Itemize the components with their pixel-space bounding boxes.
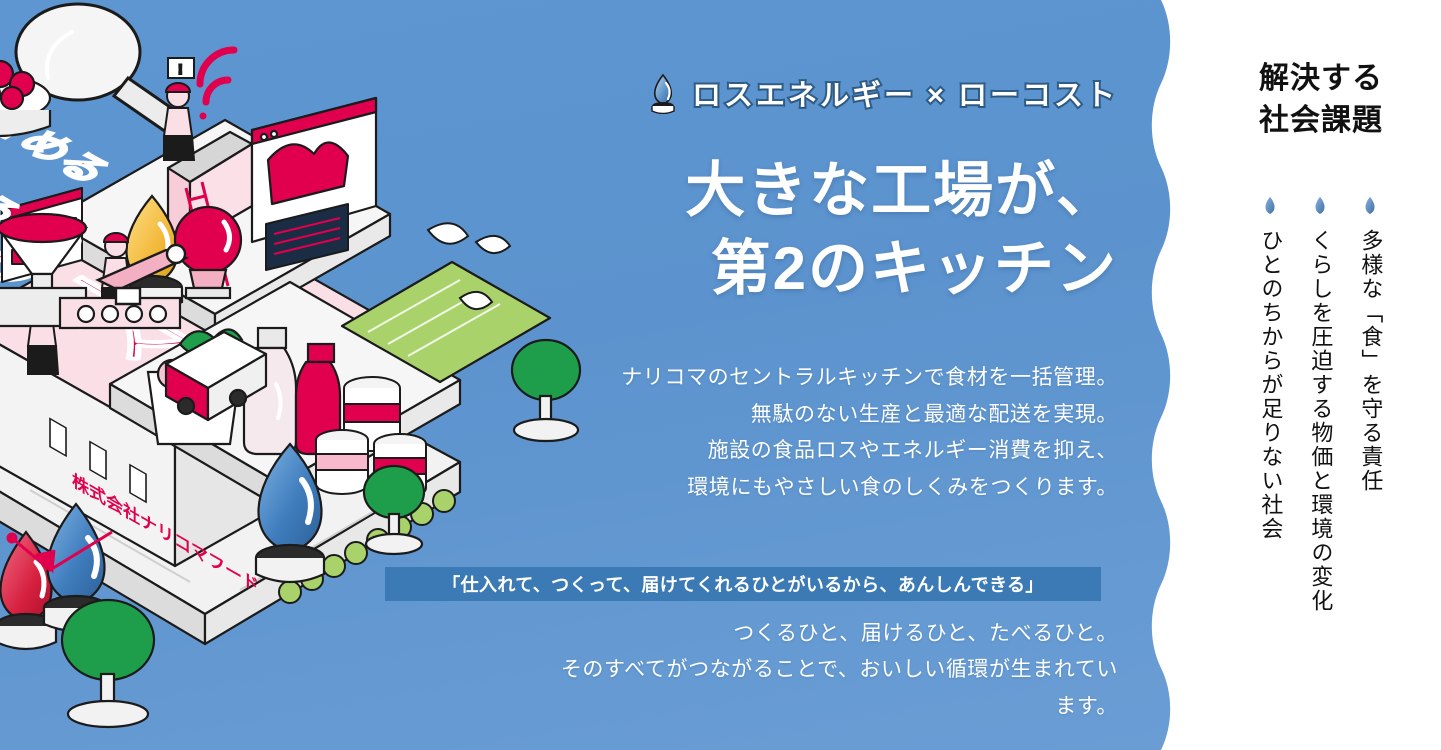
closing-paragraph: つくるひと、届けるひと、たべるひと。 そのすべてがつながることで、おいしい循環が… [560,616,1118,725]
headline-line-1: 大きな工場が、 [685,152,1118,230]
isometric-factory-illustration: ナリコマ 株式会社ナリコマフード きめる [0,0,630,732]
sidebar-title-line-1: 解決する [1259,58,1383,100]
lead-paragraph: ナリコマのセントラルキッチンで食材を一括管理。 無駄のない生産と最適な配送を実現… [621,360,1118,506]
issue-item-1: ひとのちからが足りない社会 [1245,196,1295,613]
hero-copy-column: ロスエネルギー × ローコスト 大きな工場が、 第2のキッチン ナリコマのセント… [560,0,1160,750]
tagline: ロスエネルギー × ローコスト [646,72,1118,114]
issue-text-1: ひとのちからが足りない社会 [1257,229,1284,541]
social-issues-sidebar: 解決する 社会課題 ひとのちからが足りない社会 くらしを圧迫する物価と環境の変化 [1175,0,1441,750]
lead-line-2: 無駄のない生産と最適な配送を実現。 [621,397,1118,434]
water-drop-icon [1263,196,1277,215]
sidebar-issue-columns: ひとのちからが足りない社会 くらしを圧迫する物価と環境の変化 多様な「食」を守る… [1245,196,1395,613]
svg-text:!: ! [178,61,183,77]
page-title: 大きな工場が、 第2のキッチン [685,152,1118,308]
issue-item-2: くらしを圧迫する物価と環境の変化 [1295,196,1345,613]
issue-text-3: 多様な「食」を守る責任 [1357,229,1384,493]
tagline-text: ロスエネルギー × ローコスト [692,72,1118,114]
water-drop-icon [1363,196,1377,215]
lead-line-1: ナリコマのセントラルキッチンで食材を一括管理。 [621,360,1118,397]
quote-text: 「仕入れて、つくって、届けてくれるひとがいるから、あんしんできる」 [442,571,1044,597]
sidebar-title-line-2: 社会課題 [1259,100,1383,142]
sidebar-title: 解決する 社会課題 [1259,58,1383,142]
hero-banner: ナリコマ 株式会社ナリコマフード きめる [0,0,1441,750]
closing-line-1: つくるひと、届けるひと、たべるひと。 [560,616,1118,652]
water-drop-icon [1313,196,1327,215]
lead-line-4: 環境にもやさしい食のしくみをつくります。 [621,470,1118,507]
closing-line-2: そのすべてがつながることで、おいしい循環が生まれています。 [560,652,1118,725]
water-drop-icon [646,72,680,114]
headline-line-2: 第2のキッチン [685,230,1118,308]
quote-band: 「仕入れて、つくって、届けてくれるひとがいるから、あんしんできる」 [385,567,1101,601]
issue-text-2: くらしを圧迫する物価と環境の変化 [1307,229,1334,613]
lead-line-3: 施設の食品ロスやエネルギー消費を抑え、 [621,433,1118,470]
issue-item-3: 多様な「食」を守る責任 [1345,196,1395,613]
